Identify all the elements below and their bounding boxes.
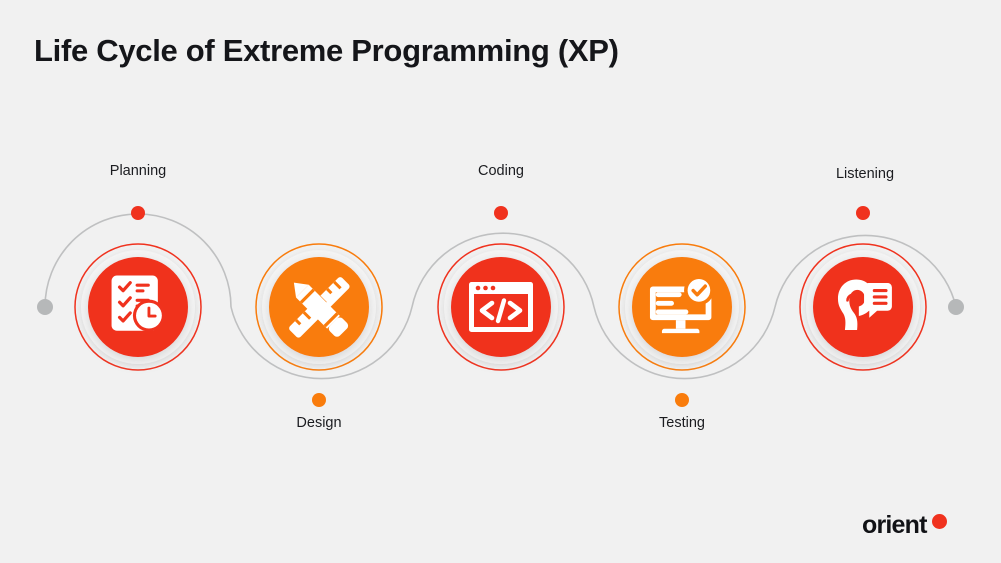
listening-marker-dot [856, 206, 870, 220]
brand-logo: orient [862, 513, 947, 538]
stage-label-testing: Testing [659, 415, 705, 431]
planning-marker-dot [131, 206, 145, 220]
brand-logo-text: orient [862, 513, 927, 538]
stage-label-design: Design [296, 415, 341, 431]
clipboard-checklist-clock-icon [112, 276, 165, 332]
stage-label-planning: Planning [110, 163, 166, 179]
stage-label-listening: Listening [836, 166, 894, 182]
stage-node-design[interactable] [256, 244, 382, 407]
stage-node-coding[interactable] [438, 206, 564, 370]
stage-label-coding: Coding [478, 163, 524, 179]
design-marker-dot [312, 393, 326, 407]
testing-marker-dot [675, 393, 689, 407]
flow-end-dot [948, 299, 964, 315]
slide-canvas: Life Cycle of Extreme Programming (XP) [0, 0, 1001, 563]
flow-start-dot [37, 299, 53, 315]
stage-node-testing[interactable] [619, 244, 745, 407]
code-window-icon [469, 282, 533, 332]
stage-node-listening[interactable] [800, 206, 926, 370]
red-dot-icon [932, 514, 947, 529]
coding-marker-dot [494, 206, 508, 220]
stage-node-planning[interactable] [75, 206, 201, 370]
process-flow-diagram [0, 0, 1001, 563]
